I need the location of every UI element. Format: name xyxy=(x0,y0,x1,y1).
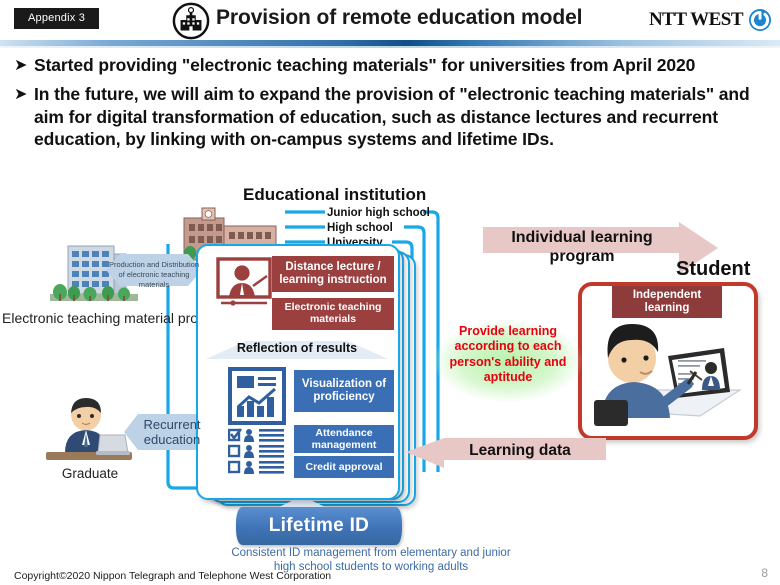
individual-learning-program-label: Individual learning program xyxy=(487,228,677,266)
learning-data-label: Learning data xyxy=(430,442,610,460)
school-building-icon xyxy=(172,2,210,40)
remote-education-diagram: Educational institution xyxy=(0,182,780,572)
header-divider-secondary xyxy=(0,46,780,48)
student-with-tablet-icon xyxy=(584,318,744,426)
lifetime-id-cylinder: Lifetime ID xyxy=(236,507,402,545)
bullet-item: ➤ Started providing "electronic teaching… xyxy=(14,54,766,77)
production-distribution-arrow-label: Production and Distribution of electroni… xyxy=(108,260,200,290)
student-label: Student xyxy=(676,258,750,281)
educational-institution-title: Educational institution xyxy=(243,185,426,205)
copyright-text: Copyright©2020 Nippon Telegraph and Tele… xyxy=(14,570,331,582)
appendix-badge: Appendix 3 xyxy=(14,8,99,29)
bullet-text: In the future, we will aim to expand the… xyxy=(34,83,766,151)
blue-box-attendance: Attendance management xyxy=(294,425,394,453)
red-box-distance-lecture: Distance lecture / learning instruction xyxy=(272,256,394,292)
recurrent-education-arrow-label: Recurrent education xyxy=(128,418,216,447)
school-level-label: Junior high school xyxy=(327,207,430,219)
attendance-list-icon xyxy=(228,428,286,476)
blue-box-visualization: Visualization of proficiency xyxy=(294,370,394,412)
slide-header: Appendix 3 Provision of remote education… xyxy=(0,0,780,42)
reflection-of-results-label: Reflection of results xyxy=(206,337,388,359)
brand-text: NTT WEST xyxy=(649,9,743,31)
graduate-at-laptop-icon xyxy=(42,397,136,465)
school-level-label: High school xyxy=(327,222,393,234)
bullet-marker-icon: ➤ xyxy=(14,83,34,105)
page-number: 8 xyxy=(761,566,768,580)
provide-learning-note: Provide learning according to each perso… xyxy=(434,324,582,385)
independent-learning-box: Independent learning xyxy=(612,286,722,318)
bullet-list: ➤ Started providing "electronic teaching… xyxy=(14,54,766,157)
ntt-power-mark-icon xyxy=(748,8,772,32)
graduate-caption: Graduate xyxy=(40,466,140,481)
proficiency-chart-icon xyxy=(228,367,286,425)
bullet-marker-icon: ➤ xyxy=(14,54,34,76)
blue-box-credit-approval: Credit approval xyxy=(294,456,394,478)
bullet-item: ➤ In the future, we will aim to expand t… xyxy=(14,83,766,151)
page-title: Provision of remote education model xyxy=(216,6,582,30)
red-box-electronic-teaching-materials: Electronic teaching materials xyxy=(272,298,394,330)
ntt-west-logo: NTT WEST xyxy=(649,8,772,32)
teacher-blackboard-icon xyxy=(215,256,273,312)
etm-companies-caption: Electronic teaching material production … xyxy=(2,310,192,327)
bullet-text: Started providing "electronic teaching m… xyxy=(34,54,695,77)
